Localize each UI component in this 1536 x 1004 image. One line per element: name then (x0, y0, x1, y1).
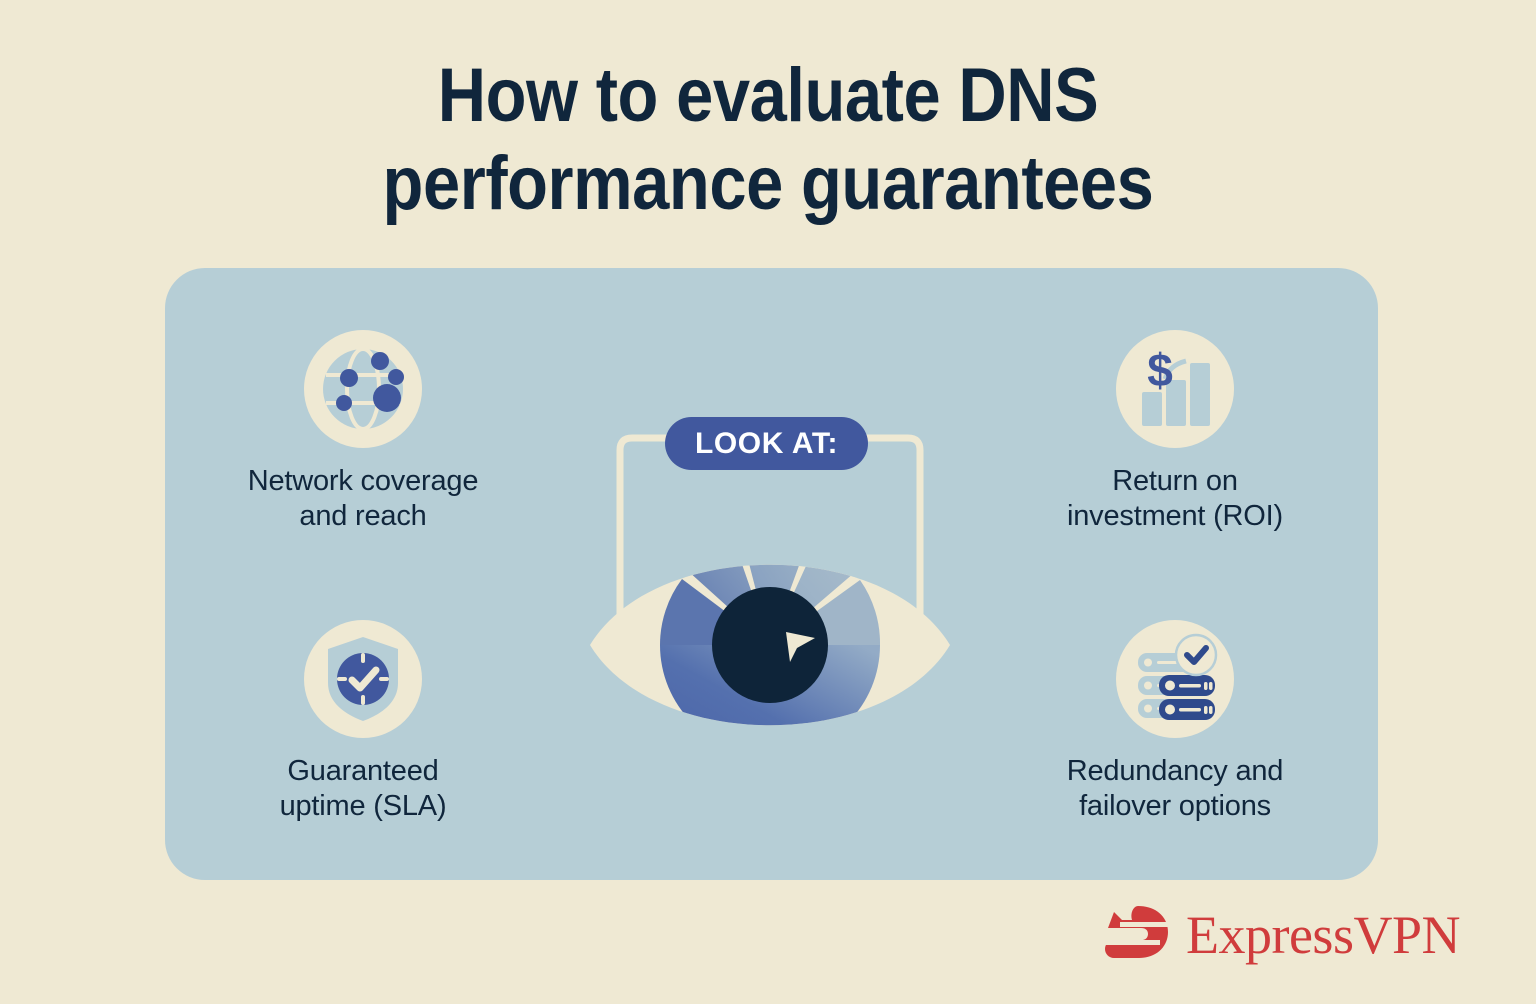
feature-label-line-1: Redundancy and (1067, 755, 1283, 787)
center-eye-group: LOOK AT: (575, 410, 965, 760)
feature-label-line-2: investment (ROI) (1067, 500, 1283, 532)
server-stack-check-icon (1116, 620, 1234, 738)
feature-label: Redundancy and failover options (1010, 754, 1340, 824)
feature-label-line-1: Guaranteed (287, 755, 438, 787)
dollar-bar-chart-icon: $ (1116, 330, 1234, 448)
feature-guaranteed-uptime: Guaranteed uptime (SLA) (198, 620, 528, 824)
feature-redundancy-failover: Redundancy and failover options (1010, 620, 1340, 824)
look-at-badge-label: LOOK AT: (695, 427, 838, 461)
page-title-line-1: How to evaluate DNS (92, 52, 1444, 140)
feature-label: Guaranteed uptime (SLA) (198, 754, 528, 824)
expressvpn-wordmark: ExpressVPN (1186, 907, 1460, 963)
page-title-line-2: performance guarantees (92, 140, 1444, 228)
feature-label: Return on investment (ROI) (1010, 464, 1340, 534)
feature-label-line-1: Network coverage (248, 465, 479, 497)
feature-return-on-investment: $ Return on investment (ROI) (1010, 330, 1340, 534)
feature-label-line-2: uptime (SLA) (280, 790, 447, 822)
feature-network-coverage: Network coverage and reach (198, 330, 528, 534)
expressvpn-logo: ExpressVPN (1100, 900, 1440, 970)
feature-label-line-2: and reach (299, 500, 426, 532)
page-title: How to evaluate DNS performance guarante… (92, 52, 1444, 228)
shield-clock-check-icon (304, 620, 422, 738)
svg-text:$: $ (1147, 344, 1173, 396)
feature-label: Network coverage and reach (198, 464, 528, 534)
expressvpn-e-icon (1100, 904, 1172, 966)
feature-label-line-1: Return on (1112, 465, 1238, 497)
feature-label-line-2: failover options (1079, 790, 1271, 822)
look-at-badge: LOOK AT: (665, 417, 868, 470)
globe-network-icon (304, 330, 422, 448)
